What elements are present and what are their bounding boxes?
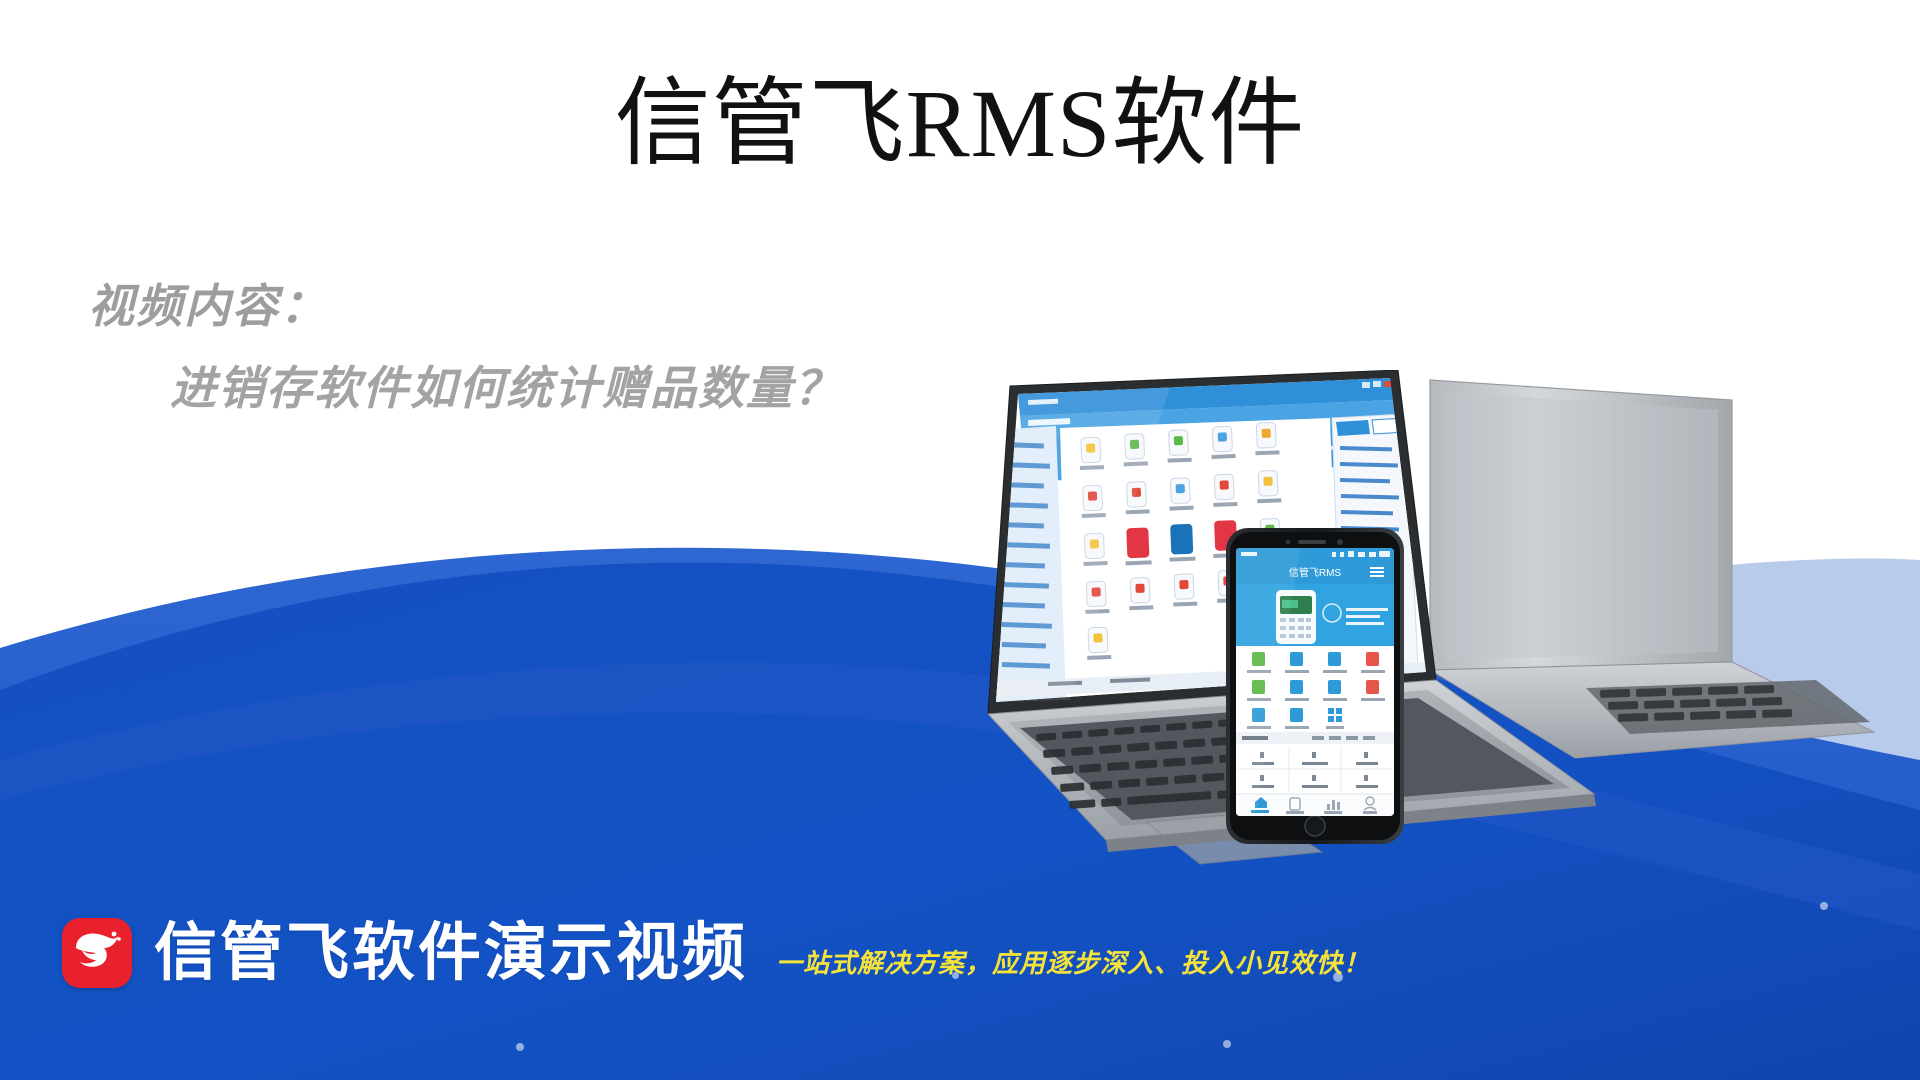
- subtitle-topic: 进销存软件如何统计赠品数量？: [170, 360, 842, 418]
- brand-name: 信管飞软件演示视频: [154, 922, 748, 985]
- laptop-rear: [1430, 380, 1874, 758]
- presentation-slide: 信管飞RMS软件 视频内容： 进销存软件如何统计赠品数量？: [0, 0, 1920, 1080]
- decor-dot: [516, 1043, 524, 1051]
- decor-dot: [1223, 1040, 1231, 1048]
- smartphone: 信管飞RMS: [1226, 528, 1404, 844]
- brand-tagline: 一站式解决方案，应用逐步深入、投入小见效快！: [776, 943, 1370, 988]
- slide-title: 信管飞RMS软件: [0, 72, 1920, 176]
- phone-app-title: 信管飞RMS: [1289, 566, 1342, 579]
- brand-bar: 信管飞软件演示视频 一站式解决方案，应用逐步深入、投入小见效快！: [62, 918, 1370, 988]
- xinguanfei-dove-logo-icon: [62, 918, 132, 988]
- device-photo-cluster: 信管飞RMS: [870, 370, 1920, 950]
- subtitle-label: 视频内容：: [88, 278, 842, 336]
- subtitle-block: 视频内容： 进销存软件如何统计赠品数量？: [88, 278, 842, 417]
- wave-light-layer-left: [0, 605, 960, 820]
